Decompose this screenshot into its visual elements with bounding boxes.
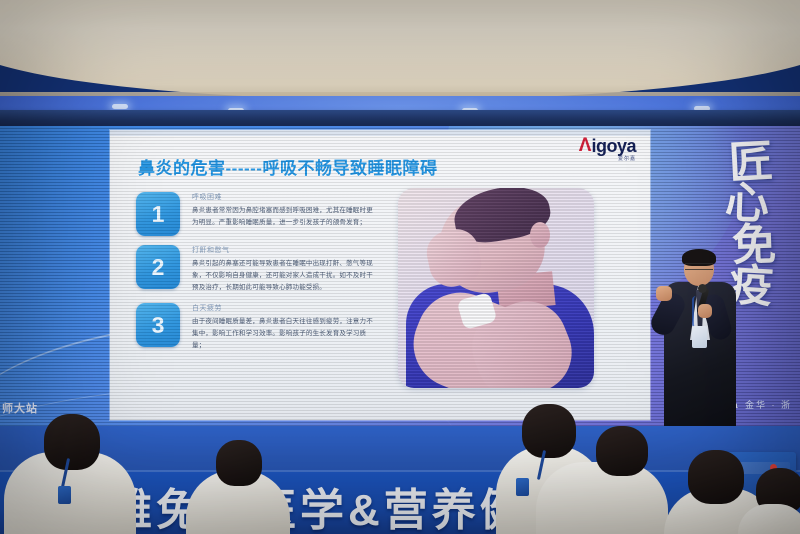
- event-banner-text: 雅免疫医学&营养健: [108, 474, 528, 534]
- photo-arm-left: [400, 279, 545, 388]
- speaker-presenter: [662, 252, 742, 426]
- logo-subtitle: 爱尔嘉: [618, 155, 636, 162]
- section-body: 鼻炎引起的鼻塞还可能导致患者在睡眠中出现打鼾、憋气等现象，不仅影响自身健康，还可…: [192, 258, 376, 294]
- speaker-hand: [698, 304, 712, 318]
- section-heading: 白天疲劳: [192, 303, 376, 313]
- photo-tissue: [457, 292, 498, 330]
- slide-section-list: 1 呼吸困难 鼻炎患者常常因为鼻腔堵塞而感到呼吸困难，尤其在睡眠时更为明显。严重…: [136, 192, 376, 361]
- photo-hair: [450, 188, 554, 248]
- speaker-fist: [656, 286, 672, 301]
- ceiling: [0, 0, 800, 100]
- audience-badge: [516, 478, 529, 496]
- audience-member-head: [44, 414, 100, 470]
- microphone-head: [698, 284, 707, 293]
- section-heading: 打鼾和憋气: [192, 245, 376, 255]
- audience-member-body: [536, 462, 668, 534]
- photo-neck: [496, 271, 555, 311]
- photo-ear: [530, 222, 550, 248]
- audience-badge: [58, 486, 71, 504]
- slide-section: 1 呼吸困难 鼻炎患者常常因为鼻腔堵塞而感到呼吸困难，尤其在睡眠时更为明显。严重…: [136, 192, 376, 236]
- audience-member-head: [688, 450, 744, 504]
- speaker-badge: [692, 326, 707, 348]
- conference-photo-scene: Λ igoya 爱尔嘉 鼻炎的危害------呼吸不畅导致睡眠障碍 1 呼吸困难…: [0, 0, 800, 534]
- logo-wordmark: igoya: [591, 137, 636, 155]
- led-city-text: 金华 · 浙: [745, 398, 792, 411]
- photo-head: [434, 189, 550, 299]
- audience-member-head: [596, 426, 648, 476]
- presentation-slide: Λ igoya 爱尔嘉 鼻炎的危害------呼吸不畅导致睡眠障碍 1 呼吸困难…: [110, 130, 650, 420]
- logo-lambda-mark: Λ: [579, 136, 591, 155]
- section-number-badge: 1: [136, 192, 180, 236]
- section-number-badge: 3: [136, 303, 180, 347]
- section-body: 由于夜间睡眠质量差，鼻炎患者白天往往感到疲劳，注意力不集中，影响工作和学习效率。…: [192, 316, 376, 352]
- slide-section: 3 白天疲劳 由于夜间睡眠质量差，鼻炎患者白天往往感到疲劳，注意力不集中，影响工…: [136, 303, 376, 352]
- slide-photo: [398, 188, 594, 388]
- slide-top-band: [110, 130, 650, 136]
- ceiling-spot-light: [112, 104, 128, 109]
- speaker-glasses: [685, 263, 713, 270]
- section-heading: 呼吸困难: [192, 192, 376, 202]
- photo-shirt: [406, 284, 594, 388]
- left-wall-text: 师大站: [2, 400, 38, 416]
- audience-member-head: [216, 440, 262, 486]
- slide-section: 2 打鼾和憋气 鼻炎引起的鼻塞还可能导致患者在睡眠中出现打鼾、憋气等现象，不仅影…: [136, 245, 376, 294]
- photo-arm-right: [460, 289, 583, 388]
- aigoya-logo: Λ igoya: [579, 136, 636, 155]
- section-number-badge: 2: [136, 245, 180, 289]
- section-body: 鼻炎患者常常因为鼻腔堵塞而感到呼吸困难，尤其在睡眠时更为明显。严重影响睡眠质量，…: [192, 205, 376, 229]
- photo-hand: [423, 225, 486, 291]
- slide-title: 鼻炎的危害------呼吸不畅导致睡眠障碍: [138, 154, 437, 179]
- audience-member-head: [522, 404, 576, 458]
